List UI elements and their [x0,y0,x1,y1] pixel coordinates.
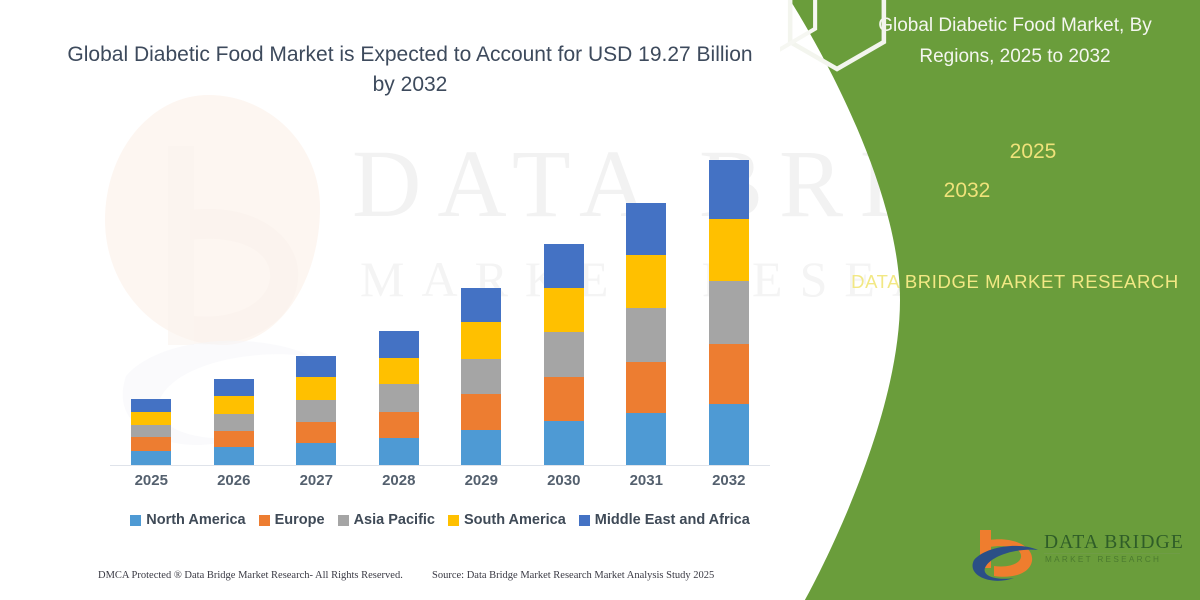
bar-segment[interactable] [214,414,254,431]
stacked-bar[interactable] [626,203,666,465]
bar-segment[interactable] [626,362,666,413]
bar-segment[interactable] [461,430,501,465]
bar-segment[interactable] [709,281,749,344]
legend-label: Asia Pacific [354,512,435,528]
bar-segment[interactable] [626,203,666,255]
x-axis-tick-label: 2026 [193,472,275,489]
stacked-bar[interactable] [544,244,584,465]
bar-group [605,140,687,465]
stacked-bar[interactable] [461,288,501,465]
bar-segment[interactable] [461,394,501,429]
legend-swatch [579,515,590,526]
bar-segment[interactable] [214,447,254,465]
bar-segment[interactable] [131,437,171,451]
bar-segment[interactable] [626,255,666,308]
logo-title: DATA BRIDGE [1044,532,1184,554]
hexagon-label-2032: 2032 [932,179,1002,203]
x-axis-tick-label: 2028 [358,472,440,489]
data-bridge-b-swoosh-logo-icon [972,528,1042,584]
bar-segment[interactable] [709,344,749,404]
bar-segment[interactable] [709,219,749,281]
logo-subtitle: MARKET RESEARCH [1045,555,1161,564]
bar-segment[interactable] [379,412,419,439]
x-axis-tick-label: 2027 [275,472,357,489]
bar-segment[interactable] [544,377,584,420]
x-axis-tick-label: 2025 [110,472,192,489]
page-title: Global Diabetic Food Market is Expected … [60,40,760,100]
x-axis-tick-label: 2030 [523,472,605,489]
bar-segment[interactable] [544,288,584,332]
bar-segment[interactable] [544,332,584,377]
bar-segment[interactable] [461,359,501,394]
legend-item[interactable]: Middle East and Africa [579,512,750,528]
footer-copyright: DMCA Protected ® Data Bridge Market Rese… [98,570,403,581]
bar-group [358,140,440,465]
bar-segment[interactable] [544,244,584,287]
bar-segment[interactable] [131,412,171,425]
legend-item[interactable]: North America [130,512,245,528]
stacked-bar[interactable] [709,160,749,465]
x-axis-tick-label: 2031 [605,472,687,489]
bar-segment[interactable] [379,358,419,385]
legend-item[interactable]: South America [448,512,566,528]
stacked-bar[interactable] [379,331,419,465]
x-axis-labels: 20252026202720282029203020312032 [110,472,770,489]
bar-segment[interactable] [131,425,171,438]
bar-segment[interactable] [214,431,254,448]
legend-swatch [259,515,270,526]
legend-swatch [338,515,349,526]
x-axis-tick-label: 2029 [440,472,522,489]
legend-swatch [130,515,141,526]
legend-item[interactable]: Asia Pacific [338,512,435,528]
data-bridge-logo: DATA BRIDGE MARKET RESEARCH [972,528,1187,586]
bar-segment[interactable] [296,400,336,422]
stacked-bar[interactable] [131,399,171,465]
x-axis-tick-label: 2032 [688,472,770,489]
bar-group [688,140,770,465]
legend-label: South America [464,512,566,528]
stacked-bar-chart: 20252026202720282029203020312032 [110,140,770,470]
panel-brand-name: DATA BRIDGE MARKET RESEARCH [850,268,1180,296]
bar-group [275,140,357,465]
bar-segment[interactable] [296,377,336,400]
chart-legend: North AmericaEuropeAsia PacificSouth Ame… [110,512,770,528]
panel-title: Global Diabetic Food Market, By Regions,… [850,10,1180,72]
bar-segment[interactable] [379,438,419,465]
bar-group [110,140,192,465]
bar-segment[interactable] [131,399,171,412]
bar-segment[interactable] [296,443,336,465]
legend-label: Middle East and Africa [595,512,750,528]
infographic-canvas: DATA BRIDGE MARKET RESEARCH Global Diabe… [0,0,1200,600]
footer-source: Source: Data Bridge Market Research Mark… [432,570,714,581]
legend-item[interactable]: Europe [259,512,325,528]
bar-segment[interactable] [379,384,419,412]
bar-group [440,140,522,465]
legend-swatch [448,515,459,526]
bar-group [523,140,605,465]
bar-segment[interactable] [296,422,336,444]
stacked-bar[interactable] [296,356,336,465]
bar-segment[interactable] [709,404,749,465]
bar-segment[interactable] [214,396,254,414]
bar-segment[interactable] [626,308,666,361]
hexagon-label-2025: 2025 [998,140,1068,164]
bar-segment[interactable] [461,288,501,322]
chart-plot-area [110,140,770,465]
bar-segment[interactable] [214,379,254,396]
bar-segment[interactable] [461,322,501,358]
bar-segment[interactable] [131,451,171,465]
legend-label: Europe [275,512,325,528]
legend-label: North America [146,512,245,528]
right-green-panel: Global Diabetic Food Market, By Regions,… [780,0,1200,600]
bar-segment[interactable] [379,331,419,358]
bar-segment[interactable] [626,413,666,465]
bar-segment[interactable] [544,421,584,465]
bar-group [193,140,275,465]
bar-segment[interactable] [709,160,749,219]
stacked-bar[interactable] [214,379,254,465]
x-axis-line [110,465,770,466]
green-panel-shape [780,0,1200,600]
bar-segment[interactable] [296,356,336,378]
